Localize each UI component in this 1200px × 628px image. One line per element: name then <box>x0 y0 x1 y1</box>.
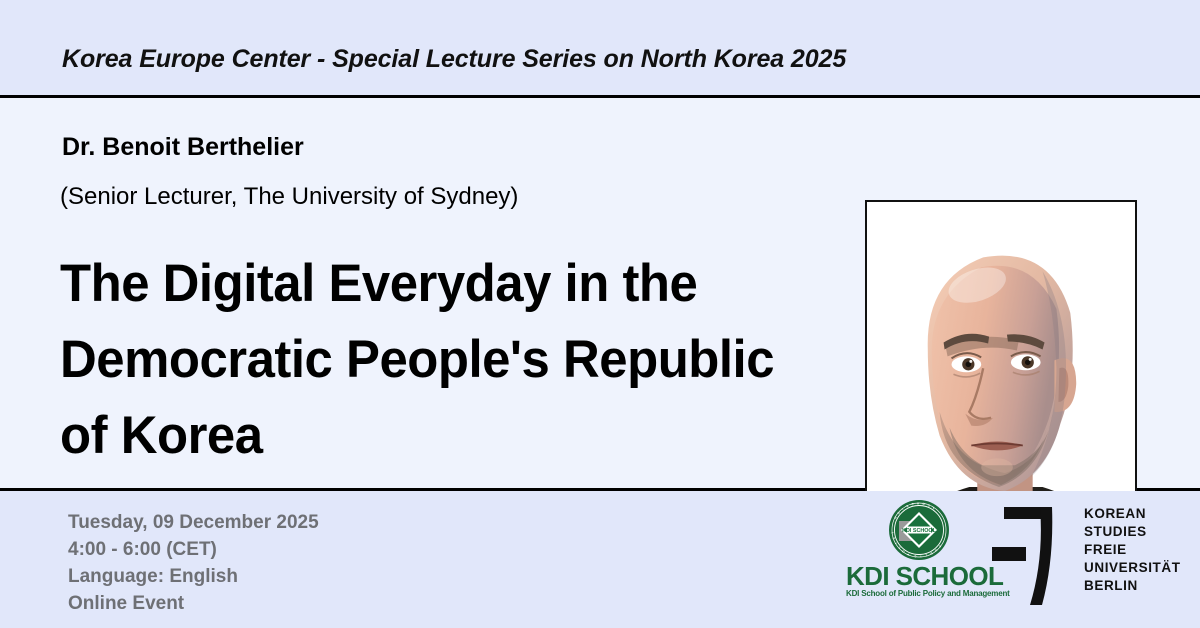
fu-line-berlin: BERLIN <box>1084 577 1181 595</box>
kdi-tagline: KDI School of Public Policy and Manageme… <box>846 589 996 598</box>
series-title: Korea Europe Center - Special Lecture Se… <box>62 45 846 74</box>
fu-berlin-logo-text: KOREAN STUDIES FREIE UNIVERSITÄT BERLIN <box>1084 505 1181 595</box>
header-band: Korea Europe Center - Special Lecture Se… <box>0 0 1200 98</box>
fu-line-studies: STUDIES <box>1084 523 1181 541</box>
kdi-seal-icon: KDI SCHOOL K D I S C H O O L P U B L I C <box>888 499 950 561</box>
event-time: 4:00 - 6:00 (CET) <box>68 536 319 563</box>
footer-band: Tuesday, 09 December 2025 4:00 - 6:00 (C… <box>0 491 1200 628</box>
speaker-affiliation: (Senior Lecturer, The University of Sydn… <box>60 183 518 211</box>
fu-berlin-logo-icon <box>990 501 1070 613</box>
kdi-wordmark: KDI SCHOOL <box>846 561 996 592</box>
svg-text:H: H <box>917 501 919 505</box>
fu-line-freie: FREIE <box>1084 541 1181 559</box>
event-date: Tuesday, 09 December 2025 <box>68 509 319 536</box>
fu-line-universitat: UNIVERSITÄT <box>1084 559 1181 577</box>
fu-line-korean: KOREAN <box>1084 505 1181 523</box>
lecture-title: The Digital Everyday in the Democratic P… <box>60 246 790 474</box>
event-format: Online Event <box>68 590 319 617</box>
event-details: Tuesday, 09 December 2025 4:00 - 6:00 (C… <box>68 509 319 617</box>
event-language: Language: English <box>68 563 319 590</box>
main-content-band: Dr. Benoit Berthelier (Senior Lecturer, … <box>0 98 1200 491</box>
kdi-school-logo: KDI SCHOOL K D I S C H O O L P U B L I C <box>846 499 996 619</box>
event-poster: Korea Europe Center - Special Lecture Se… <box>0 0 1200 628</box>
speaker-name: Dr. Benoit Berthelier <box>62 133 304 162</box>
svg-text:KDI SCHOOL: KDI SCHOOL <box>902 528 937 534</box>
